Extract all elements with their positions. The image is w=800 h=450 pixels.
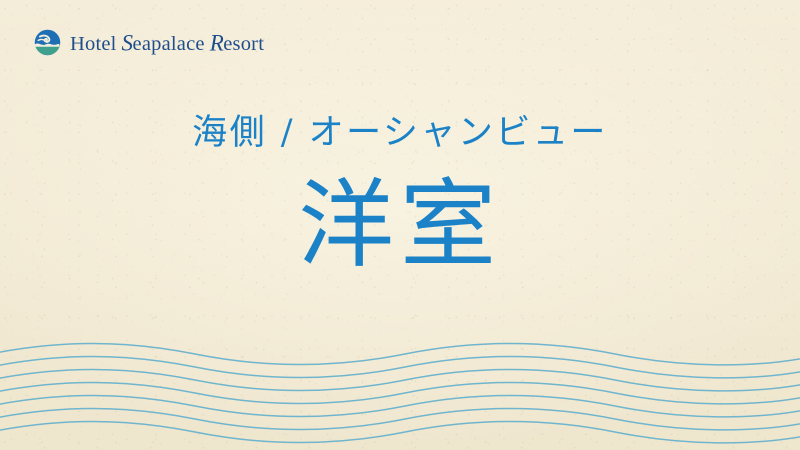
brand-swash-s: S: [122, 31, 133, 54]
wave-lines-svg: [0, 332, 800, 450]
brand-word-hotel: Hotel: [70, 34, 117, 55]
brand-logo[interactable]: Hotel S eapalace R esort: [34, 29, 264, 56]
brand-wordmark: Hotel S eapalace R esort: [70, 31, 264, 55]
brand-word-seapalace: eapalace: [133, 34, 205, 55]
ocean-wave-decoration: [0, 332, 800, 450]
slide-canvas: Hotel S eapalace R esort 海側 / オーシャンビュー 洋…: [0, 0, 800, 450]
title-block: 海側 / オーシャンビュー 洋室: [0, 112, 800, 277]
room-title: 洋室: [0, 174, 800, 278]
wave-circle-logo-icon: [34, 29, 61, 56]
room-subtitle: 海側 / オーシャンビュー: [0, 112, 800, 156]
brand-word-resort: esort: [223, 34, 264, 55]
brand-swash-r: R: [210, 31, 224, 54]
